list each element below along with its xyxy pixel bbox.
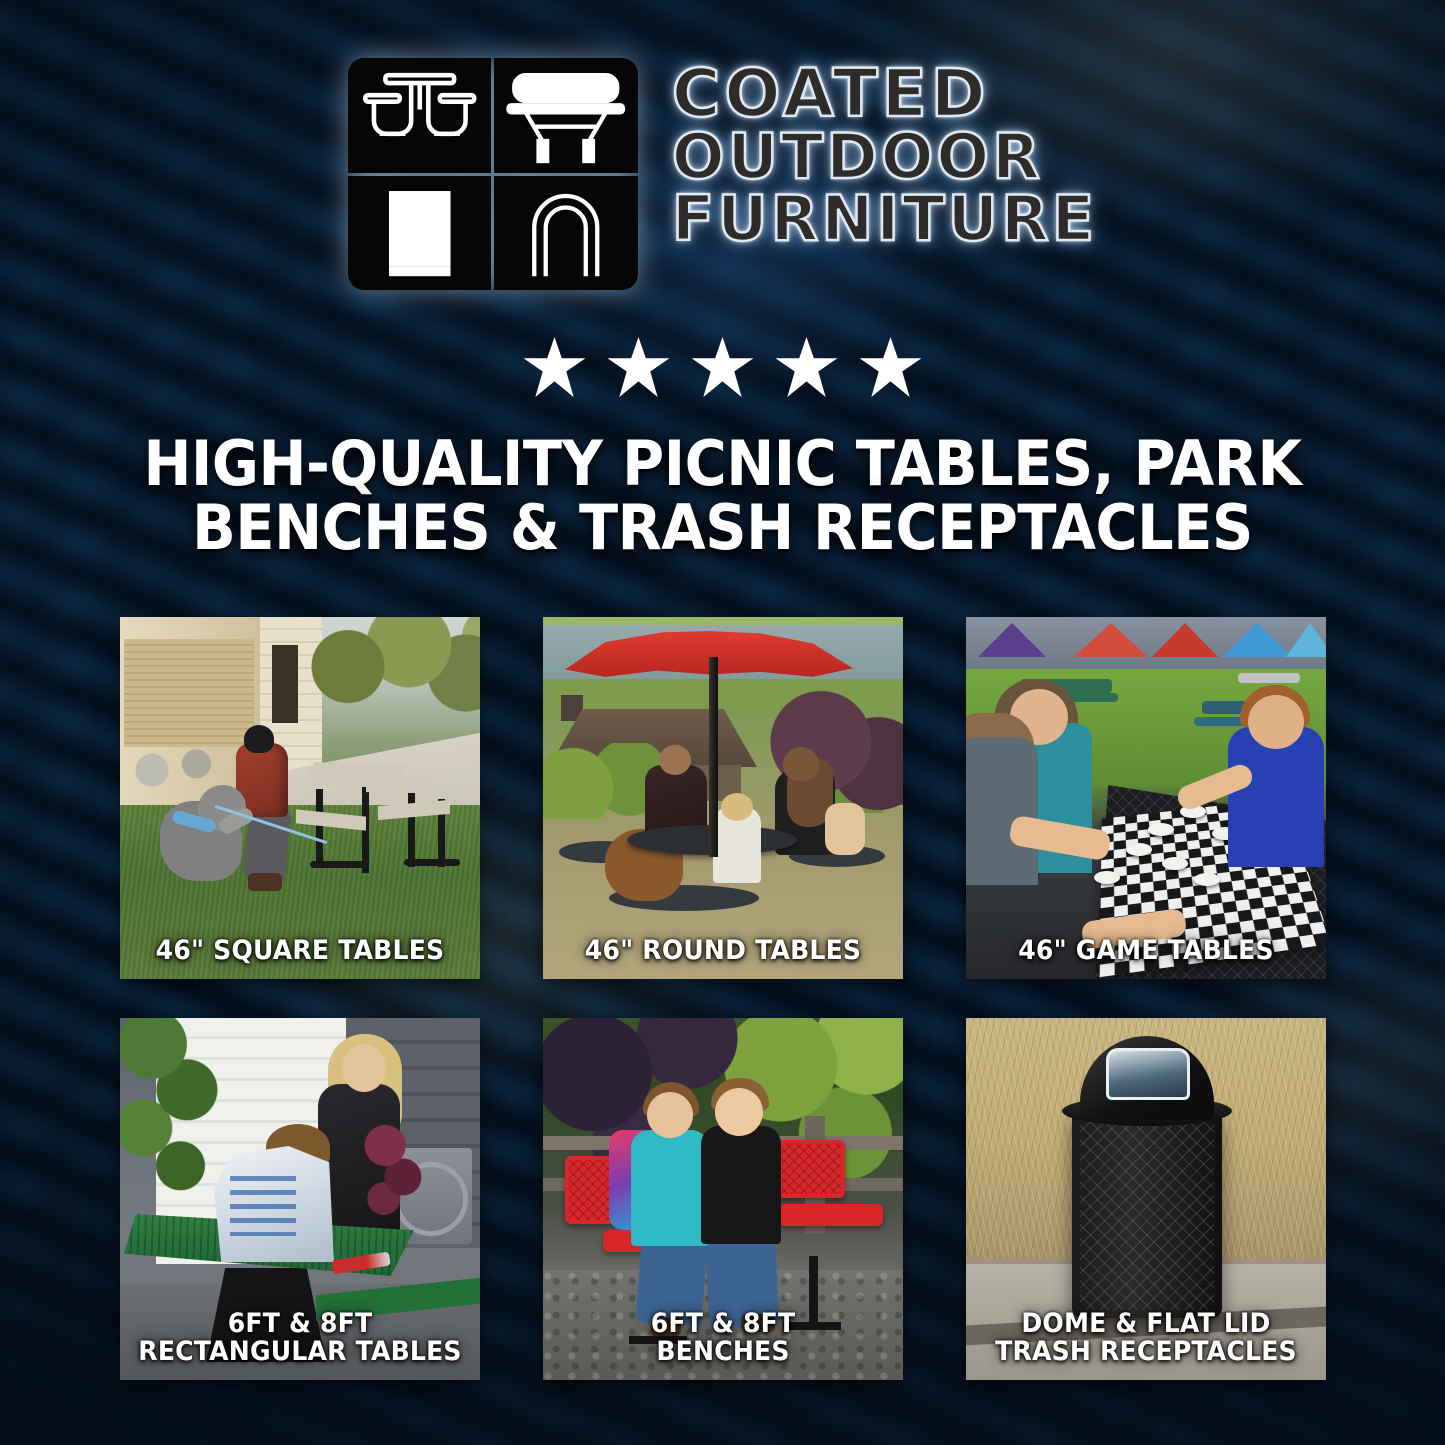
star-icon (860, 337, 922, 397)
caption-line-1: 46" SQUARE TABLES (138, 937, 462, 965)
product-card-trash-receptacles[interactable]: DOME & FLAT LID TRASH RECEPTACLES (966, 1018, 1326, 1380)
caption-line-1: DOME & FLAT LID (984, 1310, 1308, 1338)
rectangular-picnic-table-icon (494, 58, 638, 173)
arch-bike-rack-icon (494, 176, 638, 291)
caption-line-2: TRASH RECEPTACLES (984, 1338, 1308, 1366)
poster-page: COATED OUTDOOR FURNITURE HIGH-QUALITY PI… (0, 0, 1445, 1445)
brand-name-line-3: FURNITURE (672, 189, 1097, 249)
trash-receptacle-icon (348, 176, 492, 291)
product-grid: 46" SQUARE TABLES 46" ROUND TABLES (120, 617, 1326, 1380)
caption-line-1: 6FT & 8FT (561, 1310, 885, 1338)
product-caption-rectangular-tables: 6FT & 8FT RECTANGULAR TABLES (138, 1310, 462, 1366)
product-photo-square-tables (120, 617, 480, 979)
product-caption-square-tables: 46" SQUARE TABLES (138, 937, 462, 965)
caption-line-1: 46" ROUND TABLES (561, 937, 885, 965)
star-icon (608, 337, 670, 397)
product-card-game-tables[interactable]: 46" GAME TABLES (966, 617, 1326, 979)
product-card-round-tables[interactable]: 46" ROUND TABLES (543, 617, 903, 979)
caption-line-2: BENCHES (561, 1338, 885, 1366)
star-icon (524, 337, 586, 397)
caption-line-1: 6FT & 8FT (138, 1310, 462, 1338)
brand-logo[interactable]: COATED OUTDOOR FURNITURE (0, 58, 1445, 290)
product-card-benches[interactable]: 6FT & 8FT BENCHES (543, 1018, 903, 1380)
product-caption-round-tables: 46" ROUND TABLES (561, 937, 885, 965)
headline-line-1: HIGH-QUALITY PICNIC TABLES, PARK (110, 432, 1336, 496)
product-caption-trash-receptacles: DOME & FLAT LID TRASH RECEPTACLES (984, 1310, 1308, 1366)
page-title: HIGH-QUALITY PICNIC TABLES, PARK BENCHES… (110, 432, 1336, 561)
square-picnic-table-icon (348, 58, 492, 173)
caption-line-1: 46" GAME TABLES (984, 937, 1308, 965)
product-photo-game-tables (966, 617, 1326, 979)
logo-icon-grid (348, 58, 638, 290)
product-caption-benches: 6FT & 8FT BENCHES (561, 1310, 885, 1366)
product-caption-game-tables: 46" GAME TABLES (984, 937, 1308, 965)
brand-name-line-1: COATED (672, 62, 1097, 125)
caption-line-2: RECTANGULAR TABLES (138, 1338, 462, 1366)
product-card-rectangular-tables[interactable]: 6FT & 8FT RECTANGULAR TABLES (120, 1018, 480, 1380)
product-photo-round-tables (543, 617, 903, 979)
headline-line-2: BENCHES & TRASH RECEPTACLES (110, 496, 1336, 560)
star-icon (776, 337, 838, 397)
product-card-square-tables[interactable]: 46" SQUARE TABLES (120, 617, 480, 979)
star-icon (692, 337, 754, 397)
brand-wordmark: COATED OUTDOOR FURNITURE (672, 58, 1097, 248)
rating-stars (0, 337, 1445, 397)
brand-name-line-2: OUTDOOR (672, 127, 1097, 187)
